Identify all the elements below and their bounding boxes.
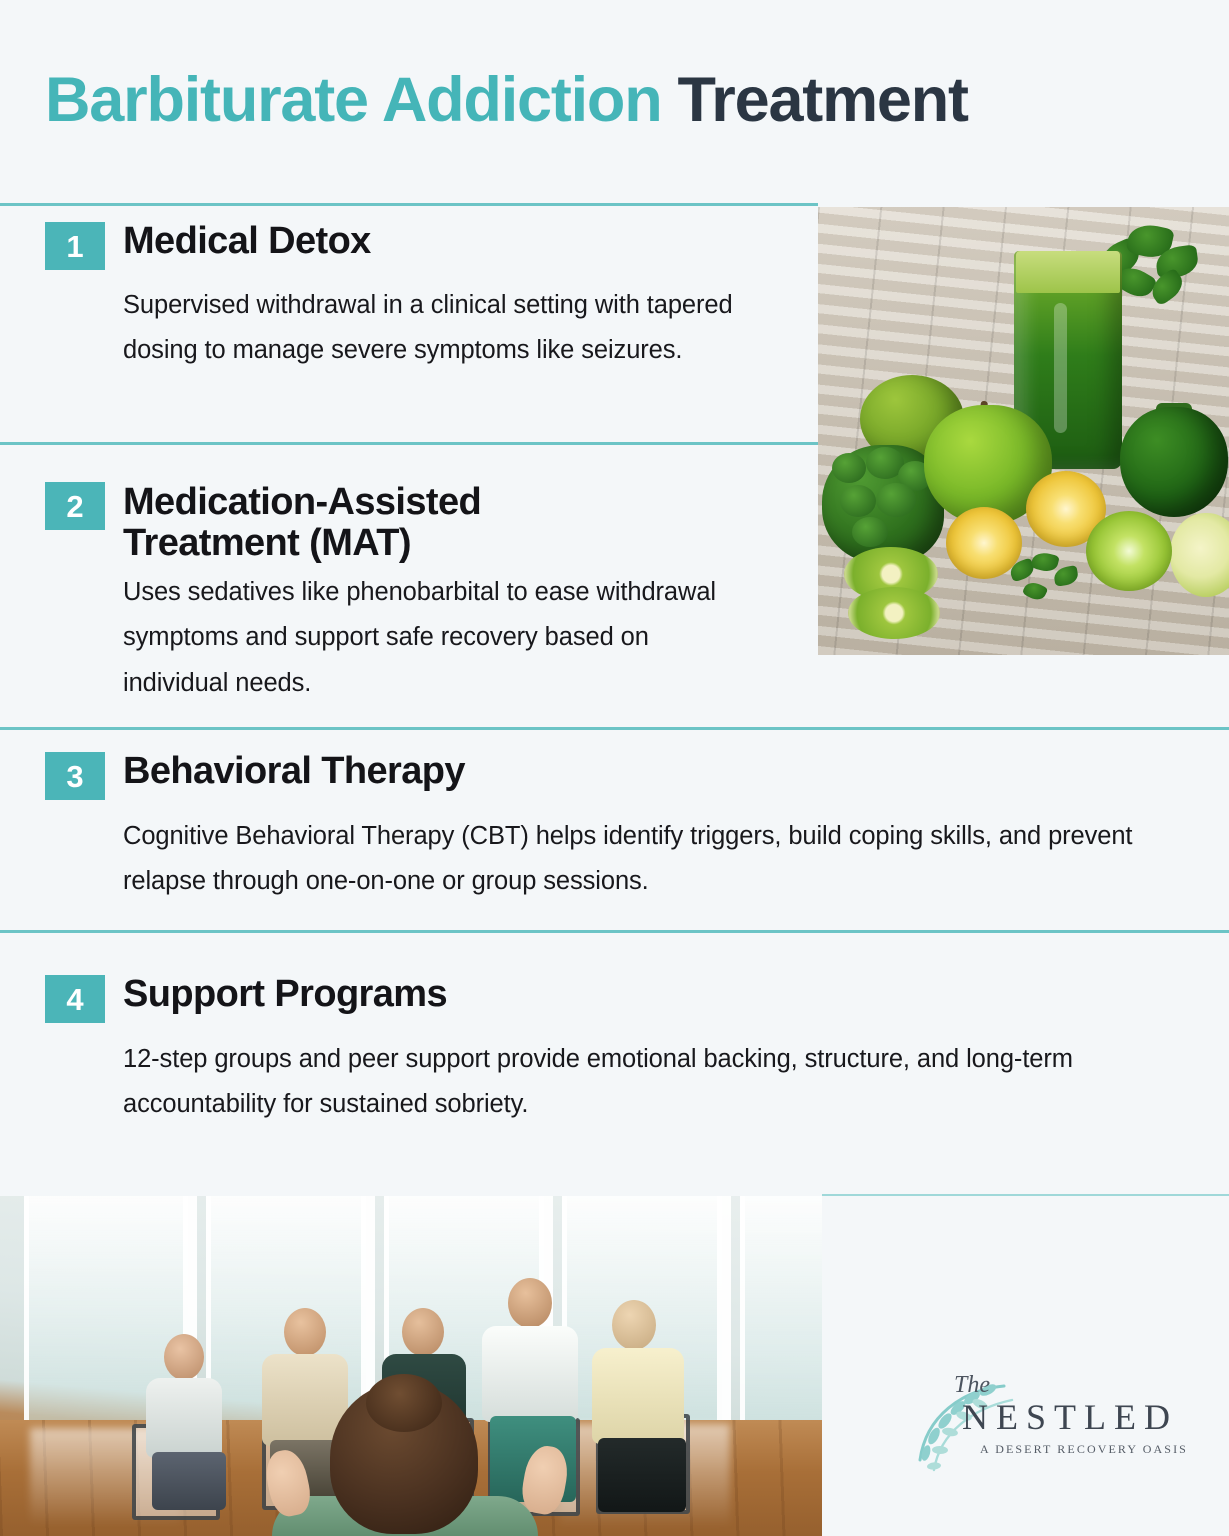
divider-top (0, 203, 818, 206)
divider-bottom-right (822, 1194, 1229, 1196)
participant-legs (598, 1438, 686, 1512)
facilitator-hair-bun (366, 1374, 442, 1432)
kiwi-slice-bottom (848, 587, 940, 639)
title-heading: Barbiturate AddictionTreatment (45, 69, 968, 132)
title-accent-text: Barbiturate Addiction (45, 65, 662, 135)
participant-torso (592, 1348, 684, 1444)
section-1-title: Medical Detox (123, 222, 371, 262)
green-juice-and-vegetables-photo (818, 207, 1229, 655)
window-mullion (722, 1196, 731, 1432)
page-title: Barbiturate AddictionTreatment (45, 55, 1185, 145)
participant-torso (482, 1326, 578, 1422)
divider-section-3-4 (0, 930, 1229, 933)
section-2-title: Medication-Assisted Treatment (MAT) (123, 482, 481, 564)
window-wall (740, 1196, 822, 1426)
divider-section-1-2 (0, 442, 818, 445)
participant-head (612, 1300, 656, 1350)
brand-logo: The NESTLED A DESERT RECOVERY OASIS (900, 1370, 1150, 1480)
section-4-header: 4 Support Programs (45, 975, 1195, 1023)
section-1-header: 1 Medical Detox (45, 222, 805, 270)
section-4-title: Support Programs (123, 975, 447, 1015)
group-therapy-session-photo (0, 1196, 822, 1536)
section-4-body: 12-step groups and peer support provide … (123, 1037, 1198, 1128)
infographic-page: Barbiturate AddictionTreatment 1 Medical… (0, 0, 1229, 1536)
section-4-number-badge: 4 (45, 975, 105, 1023)
logo-brand-name: NESTLED (962, 1396, 1178, 1438)
participant-torso (146, 1378, 222, 1458)
lime-half (1086, 511, 1172, 591)
section-3-number-badge: 3 (45, 752, 105, 800)
herb-sprig (1006, 551, 1084, 607)
green-bell-pepper (1120, 407, 1228, 517)
section-2-title-line-1: Medication-Assisted (123, 482, 481, 523)
section-2-header: 2 Medication-Assisted Treatment (MAT) (45, 482, 805, 564)
participant-legs (152, 1452, 226, 1510)
section-1-body: Supervised withdrawal in a clinical sett… (123, 283, 813, 374)
section-1-number-badge: 1 (45, 222, 105, 270)
logo-the-text: The (954, 1372, 990, 1399)
section-3-title: Behavioral Therapy (123, 752, 465, 792)
section-medication-assisted-treatment: 2 Medication-Assisted Treatment (MAT) Us… (45, 482, 805, 706)
participant-head (508, 1278, 552, 1328)
participant-head (284, 1308, 326, 1356)
title-dark-text: Treatment (678, 65, 968, 135)
juice-foam-top (1016, 251, 1120, 293)
divider-section-2-3 (0, 727, 1229, 730)
glass-highlight (1054, 303, 1067, 433)
section-support-programs: 4 Support Programs 12-step groups and pe… (45, 975, 1195, 1128)
section-3-body: Cognitive Behavioral Therapy (CBT) helps… (123, 814, 1198, 905)
section-3-header: 3 Behavioral Therapy (45, 752, 1195, 800)
logo-tagline: A DESERT RECOVERY OASIS (980, 1442, 1188, 1457)
participant-head (402, 1308, 444, 1356)
section-behavioral-therapy: 3 Behavioral Therapy Cognitive Behaviora… (45, 752, 1195, 905)
participant-head (164, 1334, 204, 1380)
section-medical-detox: 1 Medical Detox Supervised withdrawal in… (45, 222, 805, 374)
section-2-number-badge: 2 (45, 482, 105, 530)
section-2-body: Uses sedatives like phenobarbital to eas… (123, 570, 723, 706)
section-2-title-line-2: Treatment (MAT) (123, 523, 481, 564)
